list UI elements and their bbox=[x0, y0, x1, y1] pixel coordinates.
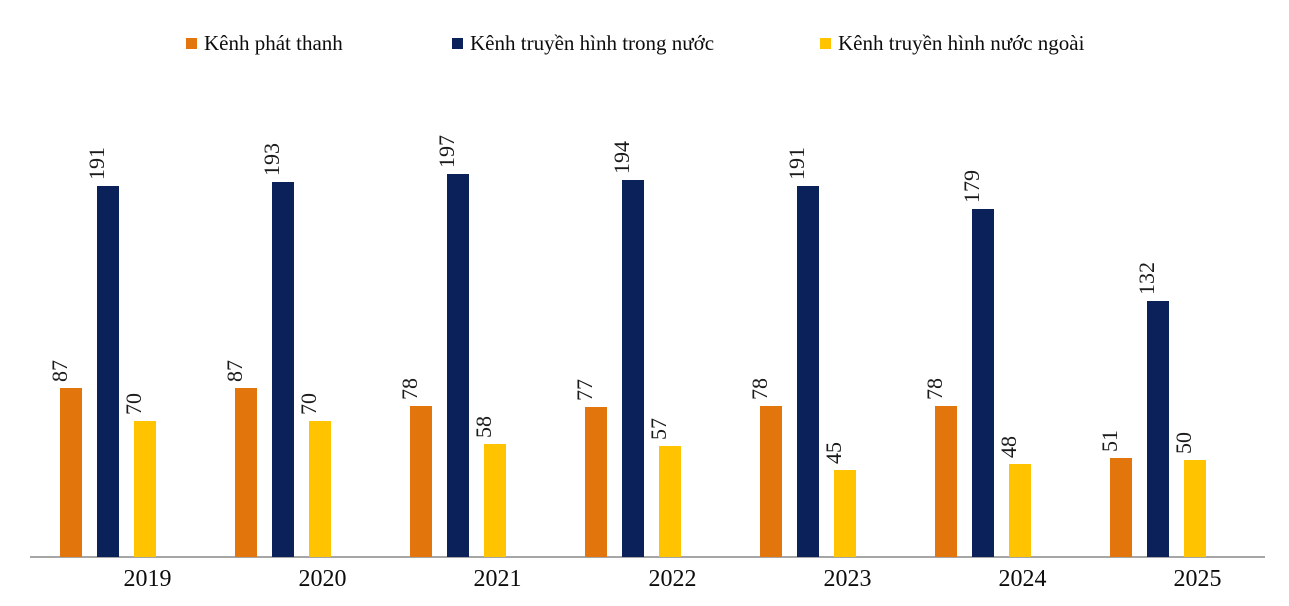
bar-value-label: 57 bbox=[648, 418, 670, 440]
bar-value-label: 87 bbox=[49, 360, 71, 382]
bar-2022-series-2[interactable]: 57 bbox=[659, 446, 681, 557]
bar-value-label: 77 bbox=[574, 379, 596, 401]
bar-2019-series-2[interactable]: 70 bbox=[134, 421, 156, 557]
bar-value-label: 78 bbox=[749, 378, 771, 400]
bar-group-2020: 87193702020 bbox=[235, 0, 410, 606]
x-axis-label-2025: 2025 bbox=[1110, 567, 1285, 591]
bar-value-label: 78 bbox=[924, 378, 946, 400]
bar-group-2022: 77194572022 bbox=[585, 0, 760, 606]
bar-value-label: 45 bbox=[823, 442, 845, 464]
bar-value-label: 191 bbox=[86, 147, 108, 180]
bar-2024-series-1[interactable]: 179 bbox=[972, 209, 994, 557]
bar-2020-series-1[interactable]: 193 bbox=[272, 182, 294, 557]
bar-value-label: 197 bbox=[436, 135, 458, 168]
bar-group-2023: 78191452023 bbox=[760, 0, 935, 606]
bar-2024-series-0[interactable]: 78 bbox=[935, 406, 957, 557]
x-axis-label-2022: 2022 bbox=[585, 567, 760, 591]
bar-2025-series-1[interactable]: 132 bbox=[1147, 301, 1169, 557]
bar-2022-series-0[interactable]: 77 bbox=[585, 407, 607, 557]
bar-2019-series-1[interactable]: 191 bbox=[97, 186, 119, 557]
bar-2021-series-1[interactable]: 197 bbox=[447, 174, 469, 557]
bar-value-label: 179 bbox=[961, 170, 983, 203]
bar-value-label: 132 bbox=[1136, 262, 1158, 295]
bar-chart: Kênh phát thanhKênh truyền hình trong nư… bbox=[0, 0, 1289, 606]
x-axis-label-2020: 2020 bbox=[235, 567, 410, 591]
bar-2025-series-0[interactable]: 51 bbox=[1110, 458, 1132, 557]
bar-2021-series-0[interactable]: 78 bbox=[410, 406, 432, 557]
bar-value-label: 48 bbox=[998, 436, 1020, 458]
bar-value-label: 191 bbox=[786, 147, 808, 180]
bar-group-2019: 87191702019 bbox=[60, 0, 235, 606]
bar-group-2025: 51132502025 bbox=[1110, 0, 1285, 606]
bar-2022-series-1[interactable]: 194 bbox=[622, 180, 644, 557]
bar-2023-series-0[interactable]: 78 bbox=[760, 406, 782, 557]
bar-2023-series-1[interactable]: 191 bbox=[797, 186, 819, 557]
bar-value-label: 70 bbox=[298, 393, 320, 415]
bar-2019-series-0[interactable]: 87 bbox=[60, 388, 82, 557]
x-axis-label-2023: 2023 bbox=[760, 567, 935, 591]
bar-2020-series-0[interactable]: 87 bbox=[235, 388, 257, 557]
bar-group-2024: 78179482024 bbox=[935, 0, 1110, 606]
bar-group-2021: 78197582021 bbox=[410, 0, 585, 606]
bar-2023-series-2[interactable]: 45 bbox=[834, 470, 856, 557]
x-axis-label-2021: 2021 bbox=[410, 567, 585, 591]
x-axis-label-2019: 2019 bbox=[60, 567, 235, 591]
x-axis-label-2024: 2024 bbox=[935, 567, 1110, 591]
bar-2020-series-2[interactable]: 70 bbox=[309, 421, 331, 557]
bar-value-label: 51 bbox=[1099, 430, 1121, 452]
bar-value-label: 70 bbox=[123, 393, 145, 415]
bar-value-label: 50 bbox=[1173, 432, 1195, 454]
bar-value-label: 78 bbox=[399, 378, 421, 400]
bar-2021-series-2[interactable]: 58 bbox=[484, 444, 506, 557]
bar-value-label: 193 bbox=[261, 143, 283, 176]
plot-area: 8719170201987193702020781975820217719457… bbox=[0, 0, 1289, 606]
bar-2025-series-2[interactable]: 50 bbox=[1184, 460, 1206, 557]
bar-value-label: 58 bbox=[473, 416, 495, 438]
bar-2024-series-2[interactable]: 48 bbox=[1009, 464, 1031, 557]
bar-value-label: 87 bbox=[224, 360, 246, 382]
bar-value-label: 194 bbox=[611, 141, 633, 174]
